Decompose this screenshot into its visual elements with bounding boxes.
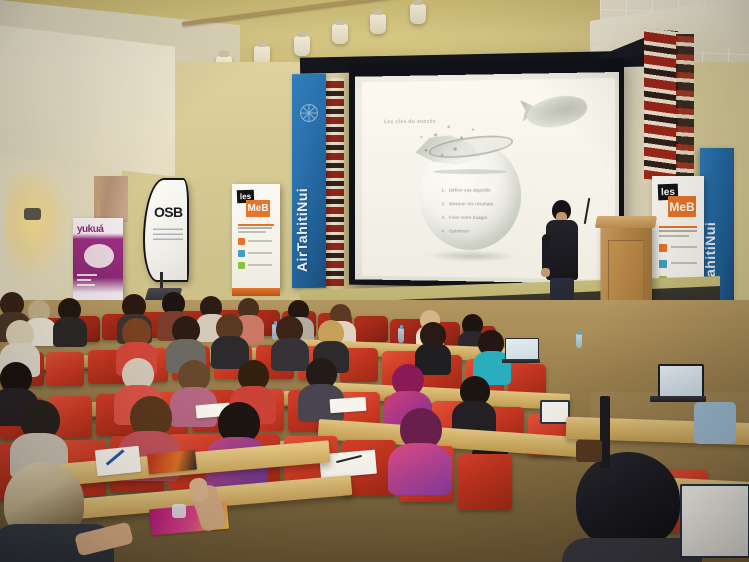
seat	[46, 352, 84, 386]
conference-photo: AirTahitiNui AirTahitiNui Les clés du su…	[0, 0, 749, 562]
meb-chip	[659, 260, 667, 268]
spotlight-icon	[294, 36, 310, 56]
yukua-text-line	[77, 274, 97, 276]
tapa-banner-right-2	[676, 34, 694, 180]
goldfish-icon	[525, 92, 589, 132]
slide-bullet-3: 3.Fixer votre budget	[442, 215, 488, 220]
spotlight-icon	[410, 4, 426, 24]
meb-text-line	[238, 227, 272, 229]
slide-bullet-4: 4.Optimiser	[442, 228, 470, 233]
foreground-attendee-left	[0, 462, 180, 562]
wristwatch	[172, 504, 186, 518]
wall-sconce-glow	[6, 170, 72, 280]
attendee-head	[576, 452, 680, 548]
meb-divider	[659, 226, 697, 228]
paper-sheet	[330, 397, 367, 413]
air-tahiti-nui-label: AirTahitiNui	[294, 92, 324, 273]
presenter-hand	[541, 268, 550, 277]
yukua-text-line	[77, 284, 95, 286]
meb-text-line	[248, 252, 272, 254]
meb-text-line	[659, 230, 697, 232]
meb-label-right: MeB	[668, 196, 696, 217]
meb-text-line	[238, 231, 266, 233]
meb-text-line	[671, 246, 697, 248]
meb-text-line	[659, 235, 689, 237]
tapa-banner-right	[644, 29, 678, 181]
meb-chip	[238, 238, 245, 245]
wall-sconce-lamp	[24, 208, 41, 220]
left-wall-upper	[0, 25, 175, 176]
meb-text-line	[671, 262, 697, 264]
yukua-text-line	[77, 279, 91, 281]
water-bottle	[398, 328, 404, 343]
yukua-url: www.yukuh.com	[77, 290, 108, 295]
osb-teardrop-flag: OSB	[143, 178, 189, 282]
meb-label: MeB	[246, 200, 270, 217]
meb-chip	[238, 262, 245, 269]
banner-stand	[96, 182, 100, 222]
spotlight-icon	[332, 24, 348, 44]
les-meb-banner-left: les MeB	[232, 184, 280, 290]
osb-logo: OSB	[154, 204, 183, 220]
yukua-logo: yukuá	[77, 223, 119, 237]
attendee-shoulder	[694, 402, 736, 444]
water-droplets	[412, 119, 493, 170]
tablet	[680, 484, 749, 558]
yukua-speech-bubble	[84, 244, 114, 268]
meb-divider	[238, 224, 274, 226]
osb-subtext	[153, 226, 183, 240]
slide-bullet-1: 1.Définir vos objectifs	[442, 188, 491, 193]
attendee-body	[388, 443, 452, 495]
podium-top	[595, 216, 657, 228]
meb-chip	[238, 250, 245, 257]
air-tahiti-nui-banner-left: AirTahitiNui	[292, 74, 326, 289]
attendee-body	[53, 317, 87, 347]
les-meb-banner-left-base	[232, 288, 280, 296]
seat	[354, 316, 388, 342]
fishbowl-shadow	[427, 250, 518, 263]
laptop-base	[502, 359, 540, 363]
presenter-arm-left	[542, 234, 551, 272]
meb-text-line	[248, 264, 272, 266]
meb-chip	[659, 244, 667, 252]
water-bottle	[576, 334, 582, 348]
seat	[458, 454, 512, 510]
bag	[576, 440, 602, 462]
meb-text-line	[248, 240, 272, 242]
slide-bullet-2: 2.Mesurer les résultats	[442, 201, 494, 206]
attendee-body	[271, 338, 309, 371]
spotlight-icon	[370, 14, 386, 34]
